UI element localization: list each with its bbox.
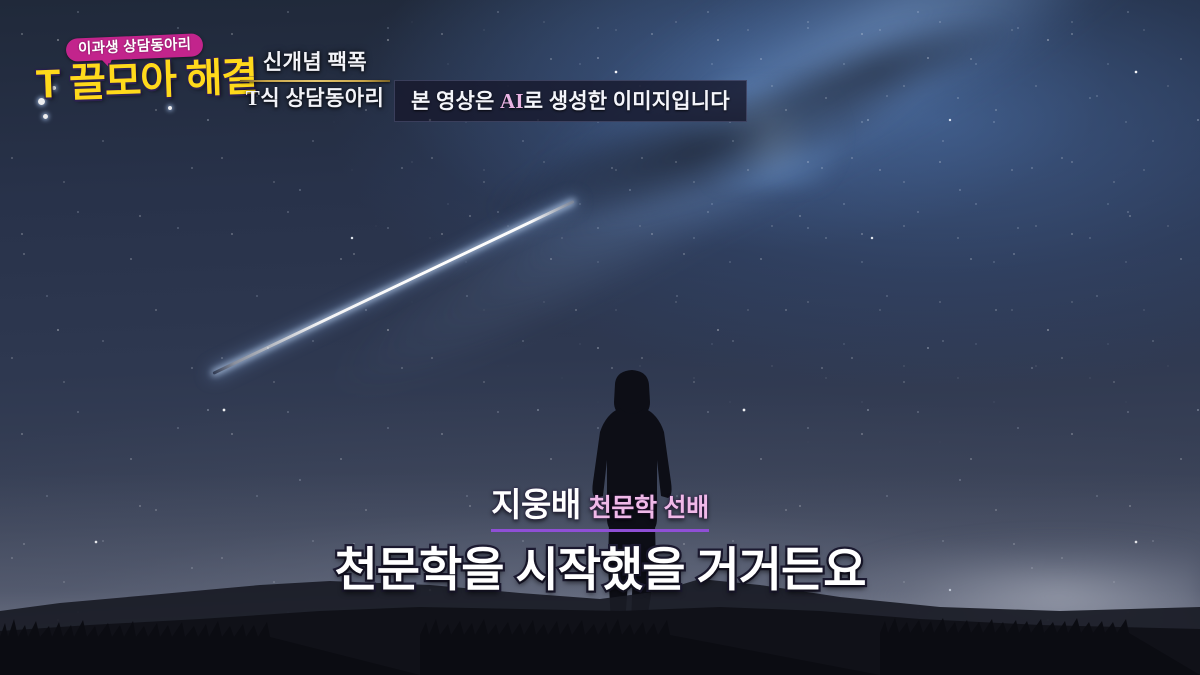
tagline-top-line: 신개념 팩폭: [240, 50, 390, 75]
ai-notice-prefix: 본 영상은: [411, 89, 500, 113]
show-tagline: 신개념 팩폭 T식 상담동아리: [240, 50, 390, 111]
ai-notice-suffix: 로 생성한 이미지입니다: [524, 89, 730, 113]
video-frame: 이과생 상담동아리 T 끌모아 해결 신개념 팩폭 T식 상담동아리 본 영상은…: [0, 0, 1200, 675]
ai-generated-notice: 본 영상은 AI로 생성한 이미지입니다: [394, 80, 747, 122]
sparkle-icon: [168, 106, 172, 110]
show-logo-title: T 끌모아 해결: [35, 56, 257, 106]
ai-notice-highlight: AI: [500, 89, 524, 113]
show-logo: 이과생 상담동아리 T 끌모아 해결: [36, 36, 236, 116]
tagline-bottom-line: T식 상담동아리: [240, 86, 390, 111]
tagline-divider: [240, 80, 390, 82]
